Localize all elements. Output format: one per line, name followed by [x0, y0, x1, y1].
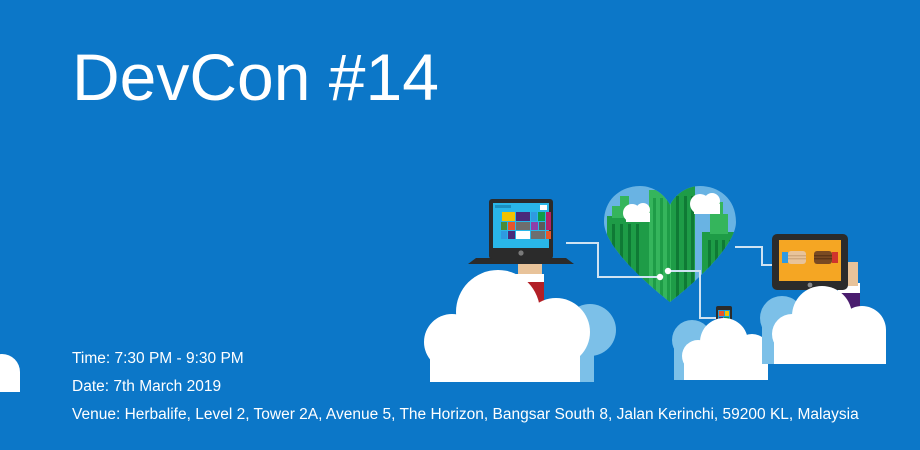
- tablet-sleeve: [838, 292, 860, 344]
- heart-cloud-right: [690, 193, 720, 214]
- tablet-home-button: [808, 283, 813, 288]
- phone-hand: [718, 333, 730, 339]
- tablet-screen: [779, 240, 841, 281]
- edge-cloud-bottom-left: [0, 354, 20, 392]
- heart-cloud-left: [623, 203, 650, 222]
- laptop-sleeve: [516, 282, 544, 340]
- laptop-trackpad-dot: [518, 250, 523, 255]
- connector-laptop-to-heart: [566, 243, 660, 277]
- tablet-body: [772, 234, 848, 290]
- page-title: DevCon #14: [72, 38, 439, 116]
- heart-shape: [604, 186, 736, 302]
- connector-heart-to-tablet: [735, 247, 790, 265]
- connector-node-right: [787, 262, 793, 268]
- phone-body: [716, 306, 732, 335]
- connector-heart-to-phone: [668, 271, 722, 318]
- heart-city-graphic: [604, 186, 736, 308]
- phone-screen: [718, 310, 730, 332]
- connector-node-left: [657, 274, 663, 280]
- event-date-line: Date: 7th March 2019: [72, 373, 920, 401]
- laptop-base: [468, 258, 574, 264]
- laptop-cuff: [516, 274, 544, 283]
- laptop-screen-tiles: [501, 212, 551, 239]
- laptop-screen-badge: [540, 205, 547, 210]
- laptop-screen: [493, 203, 549, 248]
- event-poster: DevCon #14 Time: 7:30 PM - 9:30 PM Date:…: [0, 0, 920, 450]
- tablet-cuff: [838, 283, 860, 293]
- connector-node-center: [665, 268, 671, 274]
- connector-nodes: [657, 262, 793, 280]
- laptop-lid: [489, 199, 553, 259]
- laptop-hand: [518, 258, 542, 280]
- tablet-hand: [840, 262, 858, 286]
- phone-screen-tiles: [719, 311, 729, 331]
- tablet-screen-handshake: [782, 251, 838, 264]
- event-time-line: Time: 7:30 PM - 9:30 PM: [72, 345, 920, 373]
- connector-lines: [566, 243, 790, 318]
- laptop-screen-titlebar: [495, 205, 511, 208]
- heart-city-contents: [607, 186, 736, 308]
- event-venue-line: Venue: Herbalife, Level 2, Tower 2A, Ave…: [72, 401, 920, 429]
- event-details: Time: 7:30 PM - 9:30 PM Date: 7th March …: [72, 345, 920, 429]
